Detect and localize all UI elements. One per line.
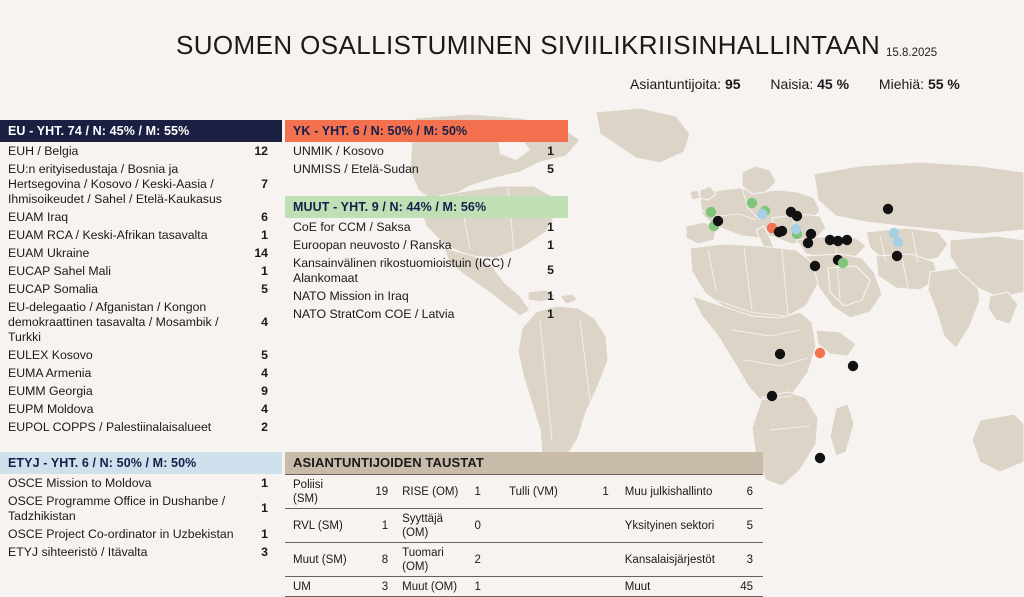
stat-label: Asiantuntijoita: — [630, 76, 721, 92]
stat-label: Naisia: — [770, 76, 813, 92]
mission-row: EU:n erityisedustaja / Bosnia ja Hertseg… — [0, 160, 282, 208]
taustat-cell-c3n — [573, 543, 613, 577]
taustat-cell-c4n: 45 — [726, 577, 763, 597]
taustat-cell-c2l: Muut (OM) — [392, 577, 470, 597]
map-marker-dot — [803, 238, 813, 248]
mission-count: 6 — [248, 210, 282, 225]
taustat-cell-c1n: 8 — [354, 543, 392, 577]
mission-label: EUCAP Sahel Mali — [0, 264, 248, 279]
panel-taustat: ASIANTUNTIJOIDEN TAUSTAT Poliisi (SM)19R… — [285, 452, 763, 597]
mission-label: EUMA Armenia — [0, 366, 248, 381]
mission-label: CoE for CCM / Saksa — [285, 220, 534, 235]
mission-count: 4 — [248, 366, 282, 381]
stat-label: Miehiä: — [879, 76, 924, 92]
mission-label: OSCE Mission to Moldova — [0, 476, 248, 491]
mission-row: OSCE Project Co-ordinator in Uzbekistan1 — [0, 525, 282, 543]
taustat-row: Poliisi (SM)19RISE (OM)1Tulli (VM)1Muu j… — [285, 475, 763, 509]
mission-row: EUMM Georgia9 — [0, 382, 282, 400]
stat-value: 55 % — [928, 76, 960, 92]
map-marker-dot — [767, 223, 777, 233]
map-marker-dot — [792, 229, 802, 239]
taustat-cell-c1n: 19 — [354, 475, 392, 509]
panel-etyj-rows: OSCE Mission to Moldova1OSCE Programme O… — [0, 474, 282, 561]
mission-count: 1 — [248, 527, 282, 542]
map-marker-dot — [810, 261, 820, 271]
mission-label: EULEX Kosovo — [0, 348, 248, 363]
panel-etyj-heading: ETYJ - YHT. 6 / N: 50% / M: 50% — [0, 452, 282, 474]
taustat-cell-c4l: Kansalaisjärjestöt — [613, 543, 727, 577]
taustat-cell-c1n: 1 — [354, 509, 392, 543]
map-marker-dot — [747, 198, 757, 208]
mission-label: EUPM Moldova — [0, 402, 248, 417]
mission-row: EUAM Iraq6 — [0, 208, 282, 226]
mission-row: EUH / Belgia12 — [0, 142, 282, 160]
stat-miehia: Miehiä: 55 % — [879, 76, 960, 92]
mission-row: EUMA Armenia4 — [0, 364, 282, 382]
mission-row: NATO StratCom COE / Latvia1 — [285, 305, 568, 323]
panel-eu-heading: EU - YHT. 74 / N: 45% / M: 55% — [0, 120, 282, 142]
stat-asiantuntijoita: Asiantuntijoita: 95 — [630, 76, 741, 92]
taustat-table: Poliisi (SM)19RISE (OM)1Tulli (VM)1Muu j… — [285, 474, 763, 597]
taustat-cell-c2l: Syyttäjä (OM) — [392, 509, 470, 543]
mission-row: UNMIK / Kosovo1 — [285, 142, 568, 160]
map-marker-dot — [767, 391, 777, 401]
map-marker-dot — [760, 206, 770, 216]
taustat-cell-c1l: Muut (SM) — [285, 543, 354, 577]
mission-row: UNMISS / Etelä-Sudan5 — [285, 160, 568, 178]
taustat-cell-c2n: 0 — [471, 509, 502, 543]
map-marker-dot — [833, 255, 843, 265]
map-marker-dot — [775, 349, 785, 359]
header-date: 15.8.2025 — [886, 47, 937, 59]
map-marker-dot — [893, 237, 903, 247]
mission-label: UNMIK / Kosovo — [285, 144, 534, 159]
map-marker-dot — [892, 251, 902, 261]
map-marker-dot — [791, 224, 801, 234]
panel-yk: YK - YHT. 6 / N: 50% / M: 50% UNMIK / Ko… — [285, 120, 568, 178]
mission-label: EUMM Georgia — [0, 384, 248, 399]
mission-row: NATO Mission in Iraq1 — [285, 287, 568, 305]
map-marker-dot — [825, 235, 835, 245]
mission-count: 14 — [248, 246, 282, 261]
mission-label: EU:n erityisedustaja / Bosnia ja Hertseg… — [0, 162, 248, 207]
mission-count: 1 — [534, 144, 568, 159]
mission-row: EUPM Moldova4 — [0, 400, 282, 418]
stat-value: 45 % — [817, 76, 849, 92]
mission-row: OSCE Mission to Moldova1 — [0, 474, 282, 492]
mission-label: Euroopan neuvosto / Ranska — [285, 238, 534, 253]
header: SUOMEN OSALLISTUMINEN SIVIILIKRIISINHALL… — [0, 0, 1024, 110]
mission-label: EUAM Ukraine — [0, 246, 248, 261]
mission-count: 12 — [248, 144, 282, 159]
mission-label: NATO Mission in Iraq — [285, 289, 534, 304]
mission-count: 2 — [248, 420, 282, 435]
taustat-cell-c1l: Poliisi (SM) — [285, 475, 354, 509]
taustat-cell-c4n: 5 — [726, 509, 763, 543]
taustat-cell-c3l — [501, 577, 573, 597]
mission-count: 9 — [248, 384, 282, 399]
panel-etyj: ETYJ - YHT. 6 / N: 50% / M: 50% OSCE Mis… — [0, 452, 282, 561]
map-marker-dot — [713, 216, 723, 226]
taustat-cell-c1l: RVL (SM) — [285, 509, 354, 543]
taustat-cell-c4l: Muut — [613, 577, 727, 597]
map-marker-dot — [786, 207, 796, 217]
panel-yk-heading: YK - YHT. 6 / N: 50% / M: 50% — [285, 120, 568, 142]
mission-count: 7 — [248, 177, 282, 192]
map-marker-group — [706, 198, 903, 463]
mission-label: Kansainvälinen rikostuomioistuin (ICC) /… — [285, 256, 534, 286]
taustat-cell-c2l: Tuomari (OM) — [392, 543, 470, 577]
mission-label: OSCE Project Co-ordinator in Uzbekistan — [0, 527, 248, 542]
taustat-cell-c3n — [573, 577, 613, 597]
mission-count: 1 — [534, 307, 568, 322]
taustat-cell-c2n: 1 — [471, 577, 502, 597]
mission-row: EU-delegaatio / Afganistan / Kongon demo… — [0, 298, 282, 346]
mission-count: 1 — [248, 501, 282, 516]
mission-label: EUAM RCA / Keski-Afrikan tasavalta — [0, 228, 248, 243]
mission-row: OSCE Programme Office in Dushanbe / Tadz… — [0, 492, 282, 525]
map-marker-dot — [883, 204, 893, 214]
mission-row: Euroopan neuvosto / Ranska1 — [285, 236, 568, 254]
mission-count: 1 — [248, 228, 282, 243]
taustat-cell-c4l: Yksityinen sektori — [613, 509, 727, 543]
mission-row: EUCAP Sahel Mali1 — [0, 262, 282, 280]
mission-row: CoE for CCM / Saksa1 — [285, 218, 568, 236]
panel-eu: EU - YHT. 74 / N: 45% / M: 55% EUH / Bel… — [0, 120, 282, 436]
mission-label: EUCAP Somalia — [0, 282, 248, 297]
mission-count: 1 — [534, 220, 568, 235]
taustat-cell-c3n — [573, 509, 613, 543]
map-marker-dot — [815, 453, 825, 463]
map-marker-dot — [757, 209, 767, 219]
mission-label: EUPOL COPPS / Palestiinalaisalueet — [0, 420, 248, 435]
taustat-cell-c1l: UM — [285, 577, 354, 597]
map-marker-dot — [706, 207, 716, 217]
taustat-cell-c4n: 6 — [726, 475, 763, 509]
mission-label: EUH / Belgia — [0, 144, 248, 159]
map-marker-dot — [774, 227, 784, 237]
panel-muut: MUUT - YHT. 9 / N: 44% / M: 56% CoE for … — [285, 196, 568, 323]
taustat-row: Muut (SM)8Tuomari (OM)2Kansalaisjärjestö… — [285, 543, 763, 577]
panel-eu-rows: EUH / Belgia12EU:n erityisedustaja / Bos… — [0, 142, 282, 436]
map-marker-dot — [842, 235, 852, 245]
panel-yk-rows: UNMIK / Kosovo1UNMISS / Etelä-Sudan5 — [285, 142, 568, 178]
mission-count: 5 — [534, 263, 568, 278]
mission-count: 3 — [248, 545, 282, 560]
mission-count: 1 — [534, 238, 568, 253]
map-marker-dot — [838, 258, 848, 268]
mission-label: NATO StratCom COE / Latvia — [285, 307, 534, 322]
mission-count: 1 — [248, 476, 282, 491]
map-marker-dot — [815, 348, 825, 358]
stat-value: 95 — [725, 76, 741, 92]
taustat-cell-c4l: Muu julkishallinto — [613, 475, 727, 509]
mission-label: UNMISS / Etelä-Sudan — [285, 162, 534, 177]
page-title: SUOMEN OSALLISTUMINEN SIVIILIKRIISINHALL… — [176, 30, 880, 61]
taustat-cell-c1n: 3 — [354, 577, 392, 597]
mission-row: EULEX Kosovo5 — [0, 346, 282, 364]
panel-muut-heading: MUUT - YHT. 9 / N: 44% / M: 56% — [285, 196, 568, 218]
mission-label: EUAM Iraq — [0, 210, 248, 225]
map-marker-dot — [889, 228, 899, 238]
mission-row: EUAM RCA / Keski-Afrikan tasavalta1 — [0, 226, 282, 244]
mission-label: ETYJ sihteeristö / Itävalta — [0, 545, 248, 560]
map-marker-dot — [833, 236, 843, 246]
mission-row: Kansainvälinen rikostuomioistuin (ICC) /… — [285, 254, 568, 287]
taustat-cell-c3l: Tulli (VM) — [501, 475, 573, 509]
mission-label: OSCE Programme Office in Dushanbe / Tadz… — [0, 494, 248, 524]
map-marker-dot — [848, 361, 858, 371]
map-marker-dot — [792, 211, 802, 221]
stat-naisia: Naisia: 45 % — [770, 76, 849, 92]
mission-count: 4 — [248, 402, 282, 417]
panel-taustat-heading: ASIANTUNTIJOIDEN TAUSTAT — [285, 452, 763, 474]
map-marker-dot — [709, 221, 719, 231]
taustat-cell-c2n: 2 — [471, 543, 502, 577]
map-marker-dot — [777, 226, 787, 236]
mission-count: 5 — [248, 282, 282, 297]
mission-count: 5 — [248, 348, 282, 363]
taustat-row: RVL (SM)1Syyttäjä (OM)0Yksityinen sektor… — [285, 509, 763, 543]
header-stats: Asiantuntijoita: 95 Naisia: 45 % Miehiä:… — [630, 76, 960, 92]
mission-row: EUPOL COPPS / Palestiinalaisalueet2 — [0, 418, 282, 436]
taustat-cell-c2l: RISE (OM) — [392, 475, 470, 509]
mission-count: 5 — [534, 162, 568, 177]
panel-muut-rows: CoE for CCM / Saksa1Euroopan neuvosto / … — [285, 218, 568, 323]
mission-count: 4 — [248, 315, 282, 330]
mission-label: EU-delegaatio / Afganistan / Kongon demo… — [0, 300, 248, 345]
map-marker-dot — [806, 229, 816, 239]
mission-row: ETYJ sihteeristö / Itävalta3 — [0, 543, 282, 561]
mission-row: EUAM Ukraine14 — [0, 244, 282, 262]
taustat-cell-c3l — [501, 509, 573, 543]
taustat-cell-c2n: 1 — [471, 475, 502, 509]
taustat-cell-c3l — [501, 543, 573, 577]
taustat-row: UM3Muut (OM)1Muut45 — [285, 577, 763, 597]
mission-count: 1 — [534, 289, 568, 304]
taustat-cell-c3n: 1 — [573, 475, 613, 509]
mission-row: EUCAP Somalia5 — [0, 280, 282, 298]
taustat-cell-c4n: 3 — [726, 543, 763, 577]
mission-count: 1 — [248, 264, 282, 279]
